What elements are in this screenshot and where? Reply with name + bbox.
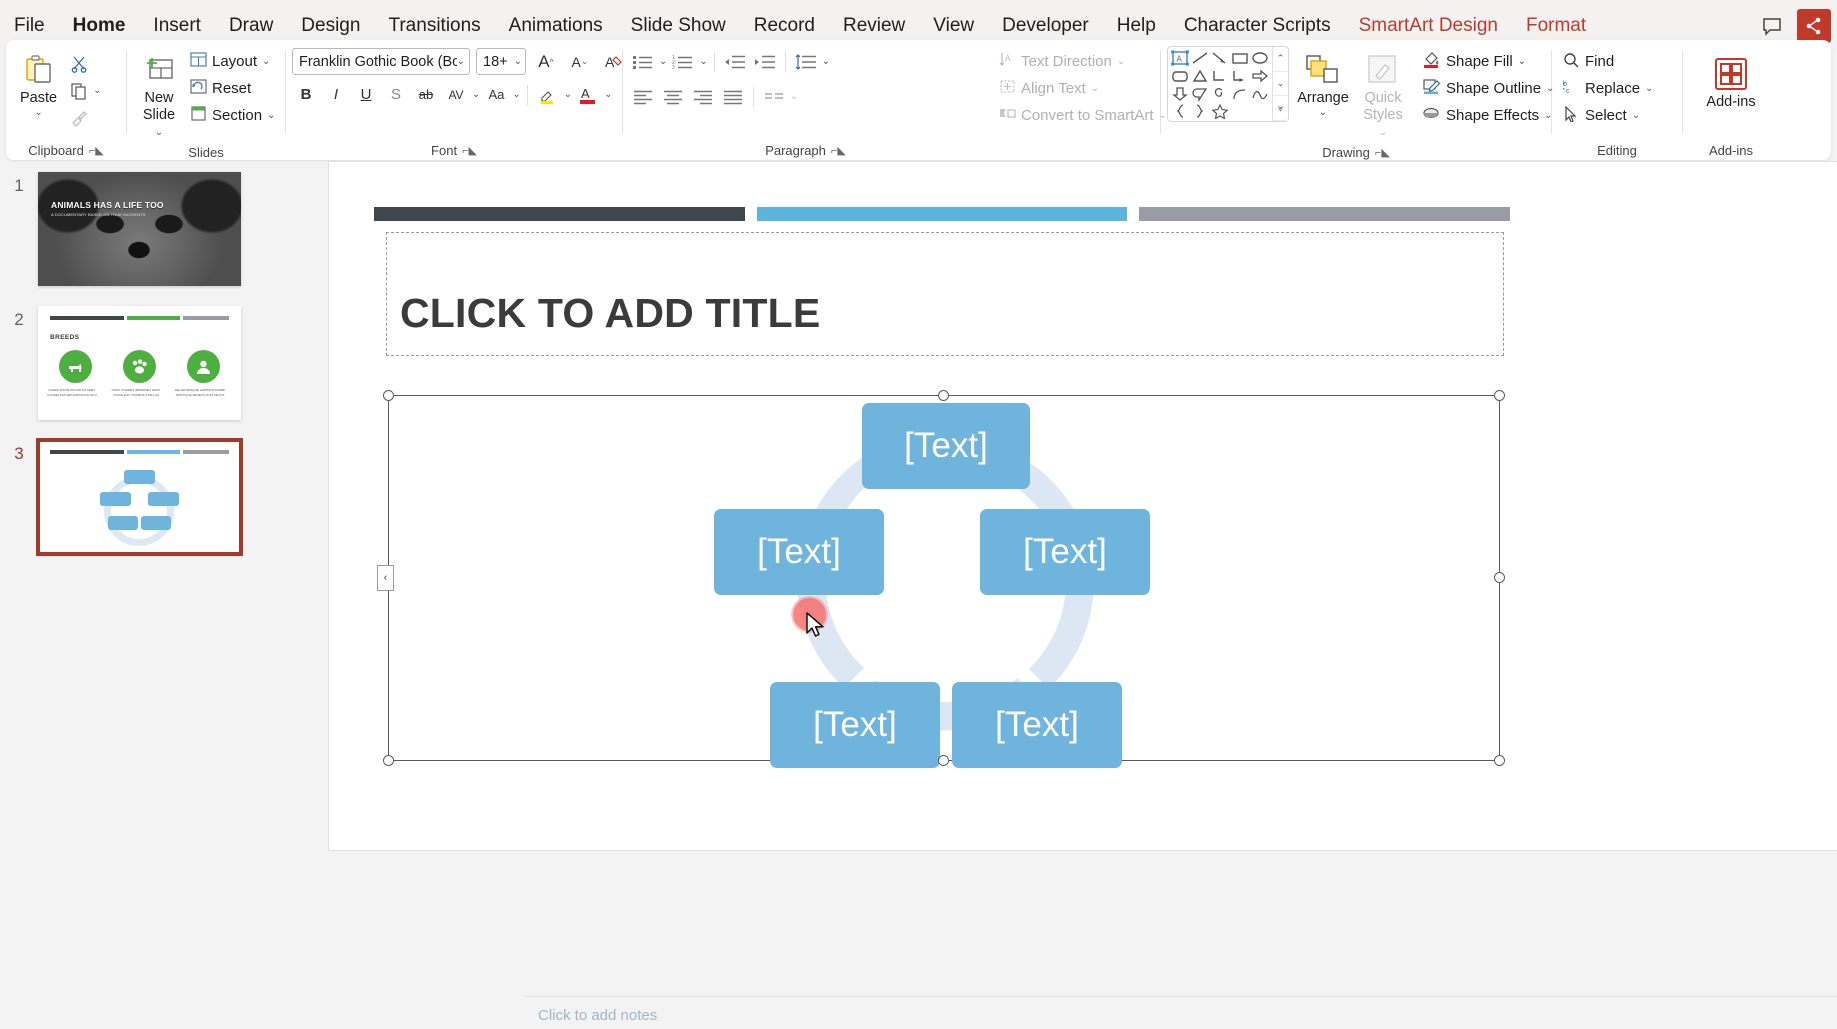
svg-text:A: A (605, 54, 615, 70)
change-case-button[interactable]: Aa (482, 81, 510, 108)
thumbnail-preview-3[interactable] (38, 440, 241, 554)
increase-indent-icon[interactable] (751, 48, 779, 75)
shape-effects-label: Shape Effects (1446, 107, 1539, 124)
decrease-indent-icon[interactable] (721, 48, 749, 75)
line-spacing-icon[interactable] (792, 48, 820, 75)
ribbon-group-label-editing: Editing (1552, 140, 1682, 160)
shape-fill-label: Shape Fill (1446, 53, 1513, 70)
resize-handle-bottom-center[interactable] (938, 755, 949, 766)
shape-effects-button[interactable]: Shape Effects ⌄ (1417, 102, 1559, 129)
bullets-chevron-down-icon[interactable]: ⌄ (659, 56, 667, 67)
ribbon-group-label-addins: Add-ins (1683, 140, 1779, 160)
shape-elbow-connector-icon[interactable] (1210, 67, 1230, 85)
svg-text:b: b (1563, 81, 1567, 88)
slide-color-bars (374, 207, 1514, 221)
align-text-icon (999, 79, 1016, 98)
ribbon: Paste ⌄ ⌄ Clipboard ⌐◣ (6, 40, 1831, 160)
dog-photo (38, 172, 241, 286)
shape-right-brace-icon[interactable] (1190, 103, 1210, 119)
smartart-selection-frame[interactable]: [Text] [Text] [Text] [Text] [Text] ‹ (388, 395, 1500, 761)
new-slide-label-line1: New (144, 90, 173, 106)
paragraph-dialog-launcher-icon[interactable]: ⌐◣ (831, 144, 846, 157)
text-direction-button[interactable]: A Text Direction ⌄ (994, 48, 1130, 75)
layout-label: Layout (212, 53, 257, 70)
font-dialog-launcher-icon[interactable]: ⌐◣ (462, 144, 477, 157)
layout-chevron-down-icon[interactable]: ⌄ (262, 56, 270, 67)
align-text-label: Align Text (1021, 80, 1086, 97)
copy-chevron-down-icon[interactable]: ⌄ (93, 85, 101, 96)
select-arrow-icon (1563, 106, 1580, 126)
section-icon (190, 106, 207, 125)
reset-icon (190, 79, 207, 98)
columns-icon[interactable] (760, 83, 788, 110)
shape-arc-icon[interactable] (1250, 85, 1270, 103)
shape-triangle-icon[interactable] (1190, 67, 1210, 85)
clipboard-dialog-launcher-icon[interactable]: ⌐◣ (89, 144, 104, 157)
shape-fill-chevron-down-icon[interactable]: ⌄ (1518, 56, 1526, 67)
italic-button[interactable]: I (322, 81, 350, 108)
section-label: Section (212, 107, 262, 124)
shapes-gallery-scroll[interactable]: ⌃ ⌄ ⩔ (1272, 47, 1288, 121)
new-slide-label-line2: Slide (143, 107, 175, 123)
slide-editing-surface[interactable]: CLICK TO ADD TITLE [Text] [Text] [ (329, 162, 1837, 850)
thumbnail-slide-1[interactable]: 1 ANIMALS HAS A LIFE TOO A DOCUMENTARY B… (0, 172, 262, 286)
smartart-node-bottom-left[interactable]: [Text] (770, 682, 940, 768)
font-name-input[interactable]: Franklin Gothic Book (Body) ⌄ (292, 48, 470, 75)
paste-icon (22, 50, 56, 90)
mouse-cursor (805, 612, 827, 645)
find-button[interactable]: Find (1558, 48, 1619, 75)
slide-thumbnail-pane[interactable]: 1 ANIMALS HAS A LIFE TOO A DOCUMENTARY B… (0, 162, 262, 1029)
font-color-icon[interactable]: A (574, 81, 602, 108)
page-title: CLICK TO ADD TITLE (400, 290, 820, 337)
replace-icon: bc (1563, 79, 1580, 99)
shapes-more-icon[interactable]: ⩔ (1273, 96, 1288, 121)
copy-icon[interactable] (65, 77, 93, 104)
ribbon-group-label-clipboard: Clipboard ⌐◣ (6, 140, 126, 160)
shape-down-arrow-icon[interactable] (1170, 85, 1190, 103)
text-shadow-button[interactable]: S (382, 81, 410, 108)
arrange-button[interactable]: Arrange ⌄ (1297, 46, 1349, 122)
color-bar-grey (1139, 207, 1510, 221)
smartart-node-left[interactable]: [Text] (714, 509, 884, 595)
decrease-font-size-icon[interactable]: A⌄ (566, 48, 594, 75)
ribbon-group-editing: Find bc Replace ⌄ Select ⌄ Editing (1552, 40, 1682, 160)
svg-text:A: A (581, 86, 590, 101)
paw-icon (123, 350, 156, 383)
resize-handle-top-left[interactable] (383, 390, 394, 401)
ribbon-group-drawing: A (1161, 40, 1551, 160)
smartart-node (124, 470, 155, 484)
slide-number-3: 3 (0, 440, 38, 554)
quick-styles-button[interactable]: QuickStyles ⌄ (1357, 46, 1409, 144)
font-size-chevron-down-icon[interactable]: ⌄ (514, 56, 522, 67)
slide-3-color-bars (50, 450, 229, 454)
text-direction-label: Text Direction (1021, 53, 1112, 70)
reset-button[interactable]: Reset (185, 75, 280, 102)
format-painter-icon[interactable] (65, 104, 93, 131)
ribbon-group-font: Franklin Gothic Book (Body) ⌄ 18+ ⌄ A^ A… (286, 40, 622, 160)
shape-fill-icon (1422, 51, 1441, 72)
increase-font-size-icon[interactable]: A^ (532, 48, 560, 75)
shape-rounded-rect-icon[interactable] (1170, 67, 1190, 85)
smartart-node-bottom-right[interactable]: [Text] (952, 682, 1122, 768)
reset-label: Reset (212, 80, 251, 97)
slide-number-2: 2 (0, 306, 38, 420)
svg-text:A: A (1177, 55, 1183, 64)
slide-number-1: 1 (0, 172, 38, 286)
font-name-chevron-down-icon[interactable]: ⌄ (457, 56, 465, 67)
slide-2-color-bars (50, 316, 229, 320)
notes-placeholder: Click to add notes (538, 1007, 657, 1024)
align-text-button[interactable]: Align Text ⌄ (994, 75, 1104, 102)
replace-chevron-down-icon[interactable]: ⌄ (1645, 83, 1653, 94)
thumbnail-slide-2[interactable]: 2 BREEDS LOREM IPSUM DOLOR SIT AMET, CON… (0, 306, 262, 420)
ribbon-group-paragraph-text-commands: A Text Direction ⌄ Align Text ⌄ Convert … (988, 40, 1160, 160)
justify-icon[interactable] (719, 83, 747, 110)
color-bar-dark (374, 207, 745, 221)
ribbon-group-label-slides: Slides (127, 144, 285, 160)
resize-handle-top-right[interactable] (1494, 390, 1505, 401)
shape-textbox-icon[interactable]: A (1170, 49, 1190, 67)
change-case-chevron-down-icon[interactable]: ⌄ (512, 89, 520, 100)
arrange-label: Arrange (1297, 90, 1349, 107)
smartart-cycle-diagram[interactable]: [Text] [Text] [Text] [Text] [Text] (389, 396, 1499, 760)
cycle-ring (104, 476, 174, 546)
font-size-input[interactable]: 18+ ⌄ (476, 48, 526, 75)
smartart-node (148, 492, 179, 506)
slide-2-caption-1: LOREM IPSUM DOLOR SIT AMET, CONSECTETUER… (46, 388, 98, 397)
comments-icon[interactable] (1755, 9, 1789, 43)
resize-handle-bottom-right[interactable] (1494, 755, 1505, 766)
svg-text:c: c (1566, 88, 1570, 95)
ribbon-group-slides: NewSlide ⌄ Layout ⌄ Reset Section ⌄ (127, 40, 285, 160)
bold-button[interactable]: B (292, 81, 320, 108)
text-direction-icon: A (999, 52, 1016, 71)
shape-left-brace-icon[interactable] (1170, 103, 1190, 119)
resize-handle-top-center[interactable] (938, 390, 949, 401)
smartart-node (100, 492, 131, 506)
convert-to-smartart-label: Convert to SmartArt (1021, 107, 1154, 124)
numbering-chevron-down-icon[interactable]: ⌄ (699, 56, 707, 67)
character-spacing-chevron-down-icon[interactable]: ⌄ (472, 89, 480, 100)
ribbon-group-clipboard: Paste ⌄ ⌄ Clipboard ⌐◣ (6, 40, 126, 160)
replace-label: Replace (1585, 80, 1640, 97)
columns-chevron-down-icon[interactable]: ⌄ (790, 91, 798, 102)
add-ins-icon (1712, 54, 1750, 94)
numbering-icon[interactable]: 123 (669, 48, 697, 75)
font-color-chevron-down-icon[interactable]: ⌄ (604, 89, 612, 100)
smartart-text-pane-toggle[interactable]: ‹ (377, 565, 394, 591)
notes-bar[interactable]: Click to add notes (524, 996, 1837, 1029)
shape-outline-label: Shape Outline (1446, 80, 1541, 97)
underline-button[interactable]: U (352, 81, 380, 108)
shape-rectangle-icon[interactable] (1230, 49, 1250, 67)
slide-1-subtitle: A DOCUMENTARY BASED ON TRUE INCIDENTS (51, 212, 146, 217)
shapes-gallery[interactable]: A (1167, 46, 1289, 122)
color-bar-blue (757, 207, 1128, 221)
ribbon-group-label-font: Font ⌐◣ (286, 140, 622, 160)
paragraph-text-commands-label-spacer (988, 140, 1160, 160)
highlight-chevron-down-icon[interactable]: ⌄ (564, 89, 572, 100)
slide-2-caption-2: NUNC VIVERRA IMPERDIET ENIM. FUSCE EST. … (110, 388, 162, 397)
smartart-node (108, 516, 138, 530)
find-label: Find (1585, 53, 1614, 70)
dog-icon (59, 350, 92, 383)
quick-styles-label-line1: Quick (1364, 90, 1401, 106)
svg-text:A: A (1005, 54, 1011, 63)
shape-outline-icon (1422, 78, 1441, 99)
shape-arrow-icon[interactable] (1210, 49, 1230, 67)
share-button[interactable] (1797, 9, 1831, 43)
convert-to-smartart-button[interactable]: Convert to SmartArt ⌄ (994, 102, 1172, 129)
search-icon (1563, 52, 1580, 72)
paste-chevron-down-icon[interactable]: ⌄ (34, 107, 42, 118)
thumbnail-preview-2[interactable]: BREEDS LOREM IPSUM DOLOR SIT AMET, CONSE… (38, 306, 241, 420)
drawing-dialog-launcher-icon[interactable]: ⌐◣ (1375, 146, 1390, 159)
layout-button[interactable]: Layout ⌄ (185, 48, 280, 75)
shape-curve-icon[interactable] (1230, 85, 1250, 103)
replace-button[interactable]: bc Replace ⌄ (1558, 75, 1658, 102)
font-name-value: Franklin Gothic Book (Body) (299, 54, 457, 70)
shape-outline-button[interactable]: Shape Outline ⌄ (1417, 75, 1559, 102)
layout-icon (190, 52, 207, 71)
align-center-icon[interactable] (659, 83, 687, 110)
convert-to-smartart-icon (999, 106, 1016, 125)
slide-2-caption-3: PELLENTESQUE HABITANT MORBI TRISTIQUE SE… (174, 388, 226, 397)
slide-2-heading: BREEDS (50, 334, 80, 341)
text-highlight-icon[interactable] (534, 81, 562, 108)
add-ins-button[interactable]: Add-ins (1698, 50, 1763, 115)
slide-1-title: ANIMALS HAS A LIFE TOO (51, 200, 164, 210)
strikethrough-button[interactable]: ab (412, 81, 440, 108)
paste-button[interactable]: Paste ⌄ (12, 46, 65, 122)
select-chevron-down-icon[interactable]: ⌄ (1632, 110, 1640, 121)
character-spacing-button[interactable]: AV (442, 81, 470, 108)
thumbnail-slide-3[interactable]: 3 (0, 440, 262, 554)
shape-scribble-icon[interactable] (1210, 85, 1230, 103)
slide-canvas-area: CLICK TO ADD TITLE [Text] [Text] [ (262, 162, 1837, 1029)
ribbon-group-label-drawing: Drawing ⌐◣ (1161, 144, 1551, 160)
ribbon-group-label-paragraph: Paragraph ⌐◣ (623, 140, 988, 160)
thumbnail-preview-1[interactable]: ANIMALS HAS A LIFE TOO A DOCUMENTARY BAS… (38, 172, 241, 286)
shape-pentagon-icon[interactable] (1190, 85, 1210, 103)
ribbon-group-addins: Add-ins Add-ins (1683, 40, 1779, 160)
align-left-icon[interactable] (629, 83, 657, 110)
shape-star-icon[interactable] (1210, 103, 1230, 119)
line-spacing-chevron-down-icon[interactable]: ⌄ (822, 56, 830, 67)
ribbon-group-paragraph: ⌄ 123 ⌄ ⌄ (623, 40, 988, 160)
resize-handle-middle-right[interactable] (1494, 572, 1505, 583)
svg-text:3: 3 (672, 65, 675, 70)
new-slide-button[interactable]: NewSlide ⌄ (133, 46, 185, 144)
quick-styles-label-line2: Styles (1363, 107, 1403, 123)
resize-handle-bottom-left[interactable] (383, 755, 394, 766)
smartart-node-top[interactable]: [Text] (862, 403, 1030, 489)
select-button[interactable]: Select ⌄ (1558, 102, 1645, 129)
shape-oval-icon[interactable] (1250, 49, 1270, 67)
shape-right-arrow-icon[interactable] (1250, 67, 1270, 85)
align-right-icon[interactable] (689, 83, 717, 110)
font-size-value: 18+ (483, 54, 514, 70)
arrange-chevron-down-icon[interactable]: ⌄ (1319, 107, 1327, 118)
section-chevron-down-icon[interactable]: ⌄ (267, 110, 275, 121)
shape-effects-icon (1422, 105, 1441, 126)
arrange-icon (1305, 50, 1341, 90)
shape-fill-button[interactable]: Shape Fill ⌄ (1417, 48, 1559, 75)
quick-styles-icon (1366, 50, 1400, 90)
paste-label: Paste (20, 90, 57, 107)
select-label: Select (1585, 107, 1627, 124)
cut-icon[interactable] (65, 50, 93, 77)
shape-elbow-arrow-icon[interactable] (1230, 67, 1250, 85)
new-slide-icon (142, 50, 176, 90)
shapes-scroll-down-icon[interactable]: ⌄ (1273, 72, 1288, 97)
smartart-node (141, 516, 171, 530)
smartart-node-right[interactable]: [Text] (980, 509, 1150, 595)
section-button[interactable]: Section ⌄ (185, 102, 280, 129)
add-ins-label: Add-ins (1706, 94, 1755, 111)
title-placeholder[interactable]: CLICK TO ADD TITLE (386, 232, 1504, 356)
titlebar-right-controls (1755, 9, 1837, 43)
shape-line-icon[interactable] (1190, 49, 1210, 67)
bullets-icon[interactable] (629, 48, 657, 75)
person-icon (187, 350, 220, 383)
shapes-scroll-up-icon[interactable]: ⌃ (1273, 47, 1288, 72)
